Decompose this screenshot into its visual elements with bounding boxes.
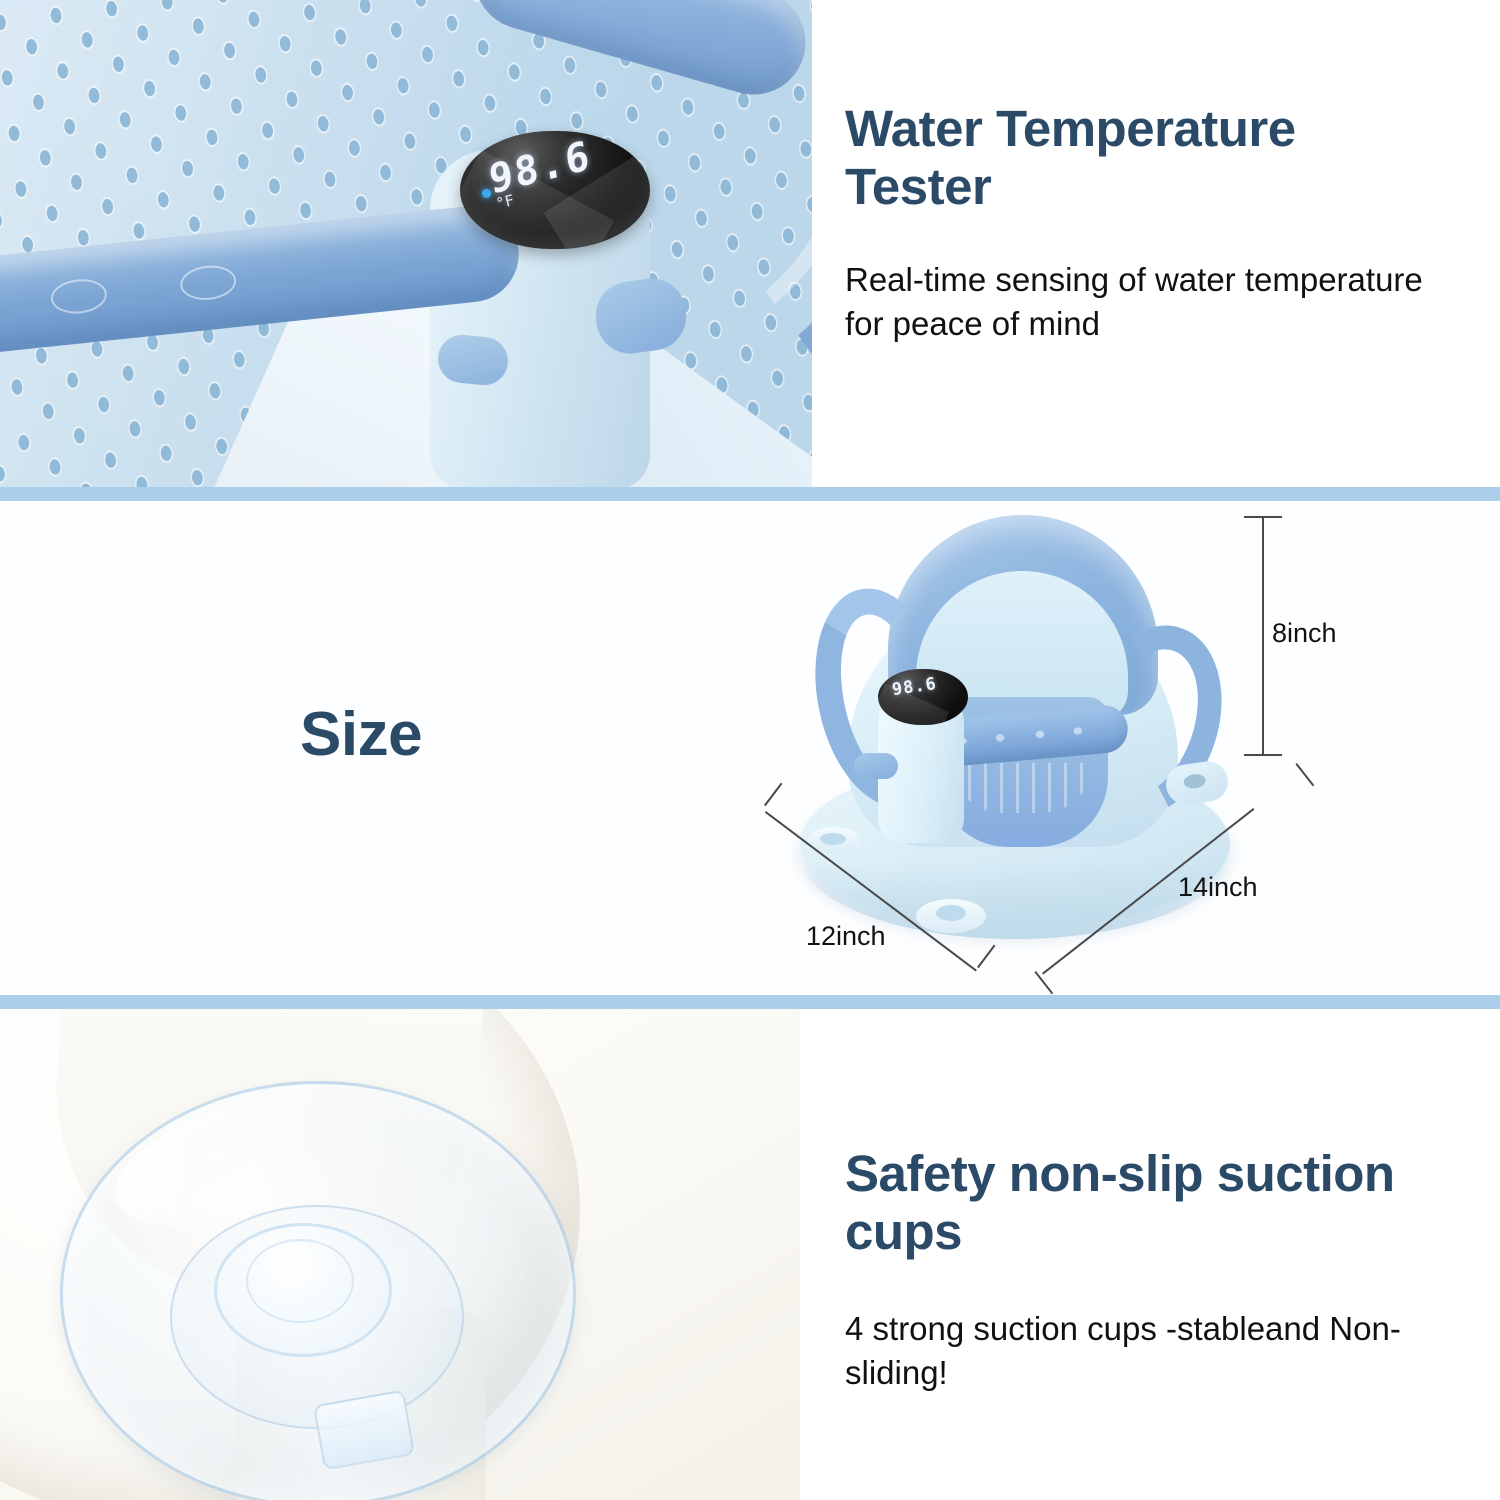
dimension-label-height: 8inch (1272, 618, 1337, 649)
headline-safety-suction-cups: Safety non-slip suction cups (845, 1145, 1445, 1261)
dimension-label-depth: 12inch (806, 921, 886, 952)
seat-post-nub (854, 753, 898, 779)
dimension-tick-height-top (1244, 516, 1282, 518)
section-divider-1 (0, 487, 1500, 501)
photo-suction-cup-closeup (0, 1009, 800, 1500)
seat-thermometer-dome: 98.6 (878, 669, 968, 725)
copy-block-suction: Safety non-slip suction cups 4 strong su… (845, 1145, 1445, 1394)
section-safety-suction-cups: Safety non-slip suction cups 4 strong su… (0, 1009, 1500, 1500)
dimension-tick-height-bottom (1244, 754, 1282, 756)
subcopy-safety-suction-cups: 4 strong suction cups -stableand Non-sli… (845, 1307, 1445, 1394)
headline-size: Size (300, 700, 422, 771)
section-size: 98.6 8inch 12inch 14inch Size (0, 501, 1500, 995)
suction-cup-left-inner (820, 833, 846, 845)
dimension-line-height (1262, 517, 1264, 755)
dimension-tick-width-start (1034, 971, 1053, 994)
thermometer-dome: 98.6 °F (460, 131, 650, 249)
subcopy-water-temperature-tester: Real-time sensing of water temperature f… (845, 258, 1445, 345)
section-divider-2 (0, 995, 1500, 1009)
bar-emboss-dimple (49, 277, 108, 317)
copy-block-size: Size (300, 700, 422, 771)
suction-cup-front-inner (936, 905, 966, 921)
thermometer-readout: 98.6 (891, 674, 938, 700)
headline-water-temperature-tester: Water Temperature Tester (845, 100, 1445, 216)
photo-thermometer-closeup: 98.6 °F (0, 0, 812, 487)
dimension-label-width: 14inch (1178, 872, 1258, 903)
seat-tab-hole (1183, 773, 1207, 790)
copy-block-temperature: Water Temperature Tester Real-time sensi… (845, 100, 1445, 345)
bar-emboss-dimple (179, 263, 238, 303)
thermometer-led-indicator (482, 189, 491, 198)
dimension-tick-width-end (1295, 763, 1314, 786)
suction-cup-ring-inner (246, 1239, 354, 1323)
section-water-temperature-tester: 98.6 °F Water Temperature Tester Real-ti… (0, 0, 1500, 487)
